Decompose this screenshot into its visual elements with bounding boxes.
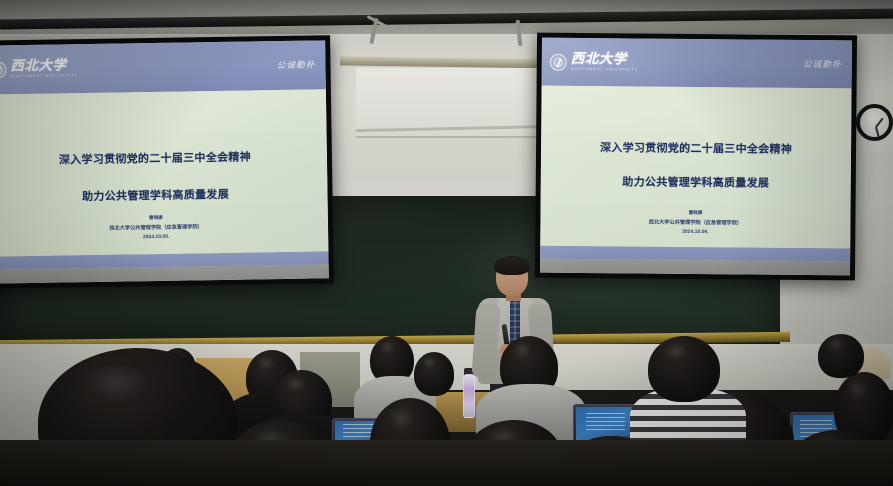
university-logo: 西北大学 NORTHWEST UNIVERSITY [550,53,639,72]
audience-head-back-7 [818,334,864,378]
logo-english-name: NORTHWEST UNIVERSITY [11,74,79,79]
laptop-content-lines [586,413,626,433]
slide-meta-block: 雷晓康 西北大学公共管理学院（应急管理学院） 2024.10.09. [109,214,203,240]
slide-body-left: 深入学习贯彻党的二十届三中全会精神 助力公共管理学科高质量发展 雷晓康 西北大学… [0,89,328,256]
slide-body-right: 深入学习贯彻党的二十届三中全会精神 助力公共管理学科高质量发展 雷晓康 西北大学… [540,86,851,248]
lecture-hall-photo: 西北大学 NORTHWEST UNIVERSITY 公诚勤朴 深入学习贯彻党的二… [0,0,893,486]
slide-presenter-name: 雷晓康 [109,214,202,221]
slide-left: 西北大学 NORTHWEST UNIVERSITY 公诚勤朴 深入学习贯彻党的二… [0,40,329,283]
audience-head-back-6 [414,352,454,396]
logo-text-block: 西北大学 NORTHWEST UNIVERSITY [571,53,639,72]
wall-clock-icon [856,104,893,141]
slide-title-line-1: 深入学习贯彻党的二十届三中全会精神 [600,139,792,157]
slide-date: 2024.10.09. [109,233,202,240]
logo-chinese-name: 西北大学 [10,59,78,74]
clock-minute-hand [875,127,881,141]
university-logo: 西北大学 NORTHWEST UNIVERSITY [0,59,78,79]
logo-chinese-name: 西北大学 [571,53,639,67]
slide-organization: 西北大学公共管理学院（应急管理学院） [649,218,742,226]
slide-title-line-1: 深入学习贯彻党的二十届三中全会精神 [59,149,251,168]
presenter-arm-left [471,303,500,378]
slide-presenter-name: 雷晓康 [649,209,742,216]
university-seal-icon [550,53,567,70]
slide-header-right: 西北大学 NORTHWEST UNIVERSITY 公诚勤朴 [542,38,852,89]
slide-bottom-shadow [540,259,850,276]
slide-date: 2024.10.09. [649,228,742,235]
presenter-hair [494,256,530,275]
right-projection-screen: 西北大学 NORTHWEST UNIVERSITY 公诚勤朴 深入学习贯彻党的二… [535,33,857,281]
audience-head-striped [648,336,720,402]
slide-right: 西北大学 NORTHWEST UNIVERSITY 公诚勤朴 深入学习贯彻党的二… [540,38,852,276]
left-projection-screen: 西北大学 NORTHWEST UNIVERSITY 公诚勤朴 深入学习贯彻党的二… [0,35,334,289]
front-desk-row [0,440,893,486]
slide-title-line-2: 助力公共管理学科高质量发展 [82,186,229,204]
slide-organization: 西北大学公共管理学院（应急管理学院） [109,223,202,231]
slide-title-line-2: 助力公共管理学科高质量发展 [622,174,769,191]
logo-english-name: NORTHWEST UNIVERSITY [571,68,639,72]
slide-meta-block: 雷晓康 西北大学公共管理学院（应急管理学院） 2024.10.09. [649,209,743,235]
logo-text-block: 西北大学 NORTHWEST UNIVERSITY [10,59,78,79]
header-calligraphy: 公诚勤朴 [803,58,842,70]
header-calligraphy: 公诚勤朴 [277,59,316,72]
university-seal-icon [0,61,7,78]
slide-header-left: 西北大学 NORTHWEST UNIVERSITY 公诚勤朴 [0,40,326,94]
